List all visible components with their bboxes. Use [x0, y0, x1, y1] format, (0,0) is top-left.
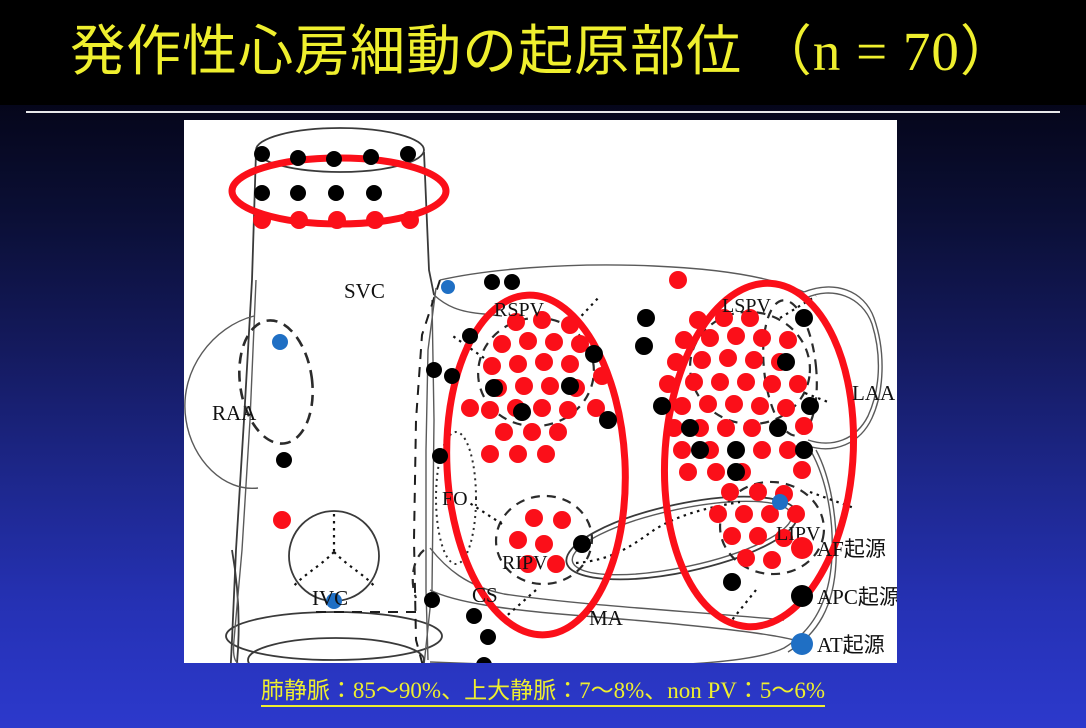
label-ivc: IVC — [312, 586, 348, 610]
label-ripv: RIPV — [502, 552, 548, 574]
page-title: 発作性心房細動の起原部位 （n = 70） — [0, 14, 1086, 90]
label-rspv: RSPV — [494, 299, 545, 321]
upper-septum-foci — [484, 274, 520, 290]
caption-bar: 肺静脈：85〜90%、上大静脈：7〜8%、non PV：5〜6% — [0, 676, 1086, 706]
label-laa: LAA — [852, 381, 896, 405]
label-lspv: LSPV — [722, 295, 771, 317]
atrial-anatomy-diagram: .out { fill:none; stroke:#5a5a5a; stroke… — [184, 120, 897, 663]
legend-marker-at — [791, 633, 813, 655]
right-atrium-outline — [226, 128, 502, 663]
mitral-annulus — [560, 480, 805, 596]
legend: AF起源 APC起源 AT起源 — [791, 537, 897, 657]
legend-marker-apc — [791, 585, 813, 607]
right-atrium-foci — [272, 334, 292, 529]
legend-label-at: AT起源 — [817, 633, 885, 657]
legend-marker-af — [791, 537, 813, 559]
label-ma: MA — [589, 606, 624, 630]
rspv-foci — [481, 311, 617, 463]
left-atrium-outline — [430, 265, 882, 663]
title-bar: 発作性心房細動の起原部位 （n = 70） — [0, 0, 1086, 105]
legend-label-apc: APC起源 — [817, 585, 897, 609]
lspv-foci — [653, 309, 819, 481]
caption-text: 肺静脈：85〜90%、上大静脈：7〜8%、non PV：5〜6% — [261, 678, 825, 707]
slide-canvas: 発作性心房細動の起原部位 （n = 70） .out { fill:none; … — [0, 0, 1086, 728]
left-wall-af-focus — [669, 271, 687, 289]
label-svc: SVC — [344, 279, 385, 303]
legend-label-af: AF起源 — [817, 537, 886, 561]
figure-panel: .out { fill:none; stroke:#5a5a5a; stroke… — [184, 120, 897, 663]
ma-at-focus — [772, 494, 788, 510]
title-divider — [26, 111, 1060, 113]
label-cs: CS — [472, 583, 498, 607]
label-raa: RAA — [212, 401, 257, 425]
svc-foci — [254, 146, 416, 201]
label-fo: FO — [442, 488, 468, 510]
